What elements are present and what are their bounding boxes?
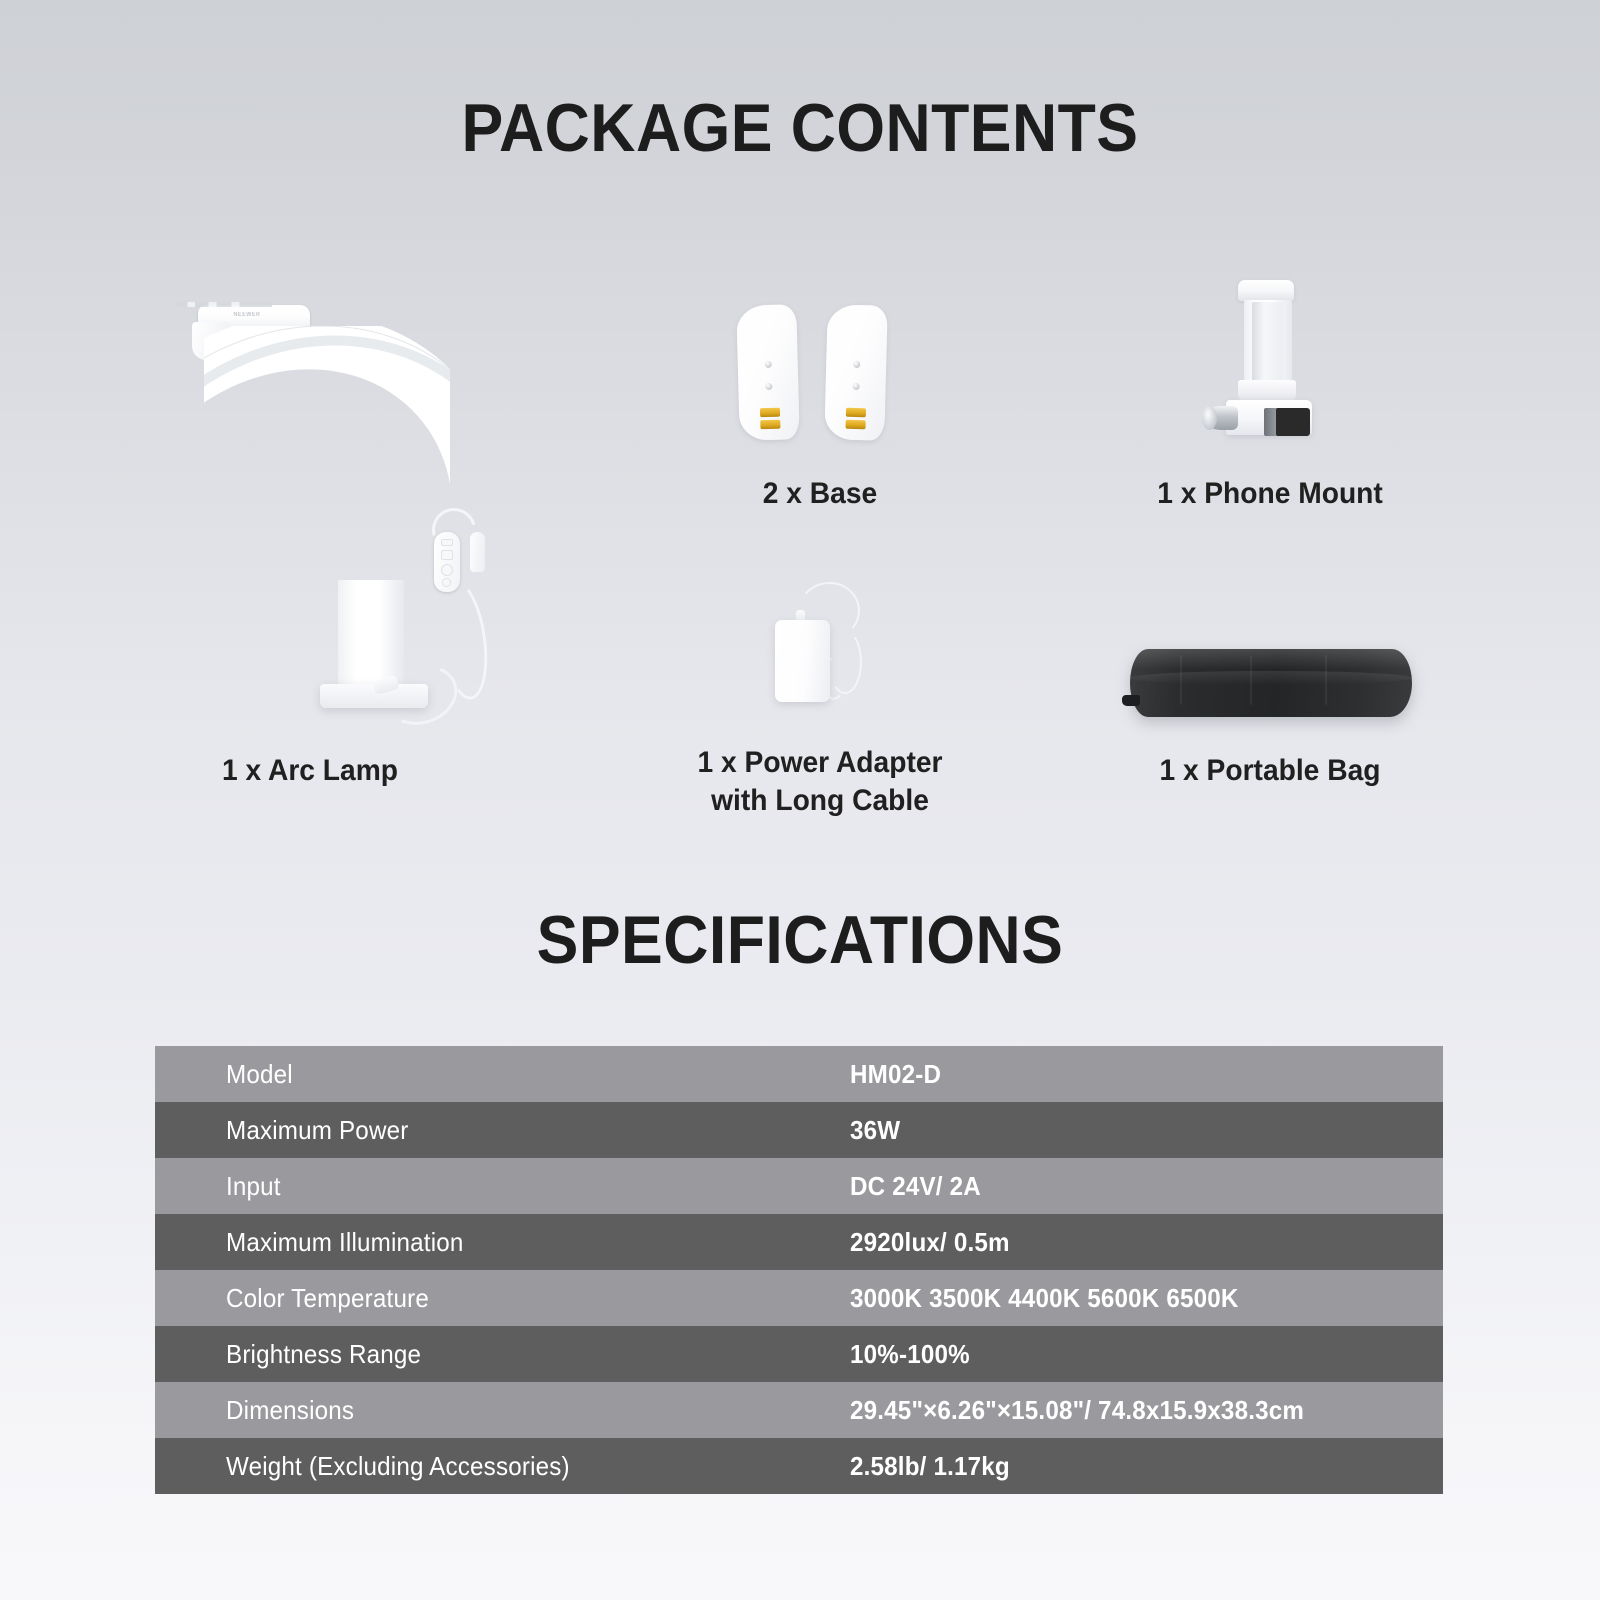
phone-mount-knob-cap xyxy=(1202,406,1217,430)
spec-value: 36W xyxy=(850,1115,1401,1145)
base-connector-upper xyxy=(846,408,866,418)
specifications-table: ModelHM02-DMaximum Power36WInputDC 24V/ … xyxy=(155,1046,1443,1494)
package-contents-title: PACKAGE CONTENTS xyxy=(64,88,1536,168)
base-screw-bottom xyxy=(765,383,772,390)
phone-mount-clamp-pad xyxy=(1276,408,1310,436)
phone-mount-bottom-jaw xyxy=(1238,380,1296,402)
spec-label: Color Temperature xyxy=(226,1283,806,1313)
spec-value: DC 24V/ 2A xyxy=(850,1171,1401,1201)
phone-mount-top-jaw xyxy=(1238,280,1294,301)
spec-value: HM02-D xyxy=(850,1059,1401,1089)
caption-portable-bag: 1 x Portable Bag xyxy=(1091,752,1448,790)
phone-mount-image xyxy=(1200,280,1350,445)
adapter-brick xyxy=(775,620,830,702)
caption-base: 2 x Base xyxy=(651,475,989,513)
base-plate-left xyxy=(736,304,800,441)
product-detail-page: PACKAGE CONTENTS NEEWER 1 x Arc Lamp xyxy=(0,0,1600,1600)
spec-row: Maximum Power36W xyxy=(155,1102,1443,1158)
portable-bag-image xyxy=(1120,645,1420,725)
lamp-led-strip xyxy=(176,302,272,307)
spec-label: Maximum Illumination xyxy=(226,1227,806,1257)
controller-button-3 xyxy=(441,564,453,576)
power-adapter-image xyxy=(770,580,890,710)
arc-lamp-image: NEEWER xyxy=(170,280,530,730)
spec-row: Brightness Range10%-100% xyxy=(155,1326,1443,1382)
spec-label: Dimensions xyxy=(226,1395,806,1425)
specifications-title: SPECIFICATIONS xyxy=(64,900,1536,980)
spec-label: Maximum Power xyxy=(226,1115,806,1145)
lamp-brand-label: NEEWER xyxy=(233,312,260,318)
base-screw-bottom xyxy=(853,383,860,390)
lamp-dc-connector xyxy=(470,532,485,572)
spec-row: InputDC 24V/ 2A xyxy=(155,1158,1443,1214)
bag-fold xyxy=(1180,655,1182,705)
spec-row: Maximum Illumination2920lux/ 0.5m xyxy=(155,1214,1443,1270)
spec-row: Color Temperature3000K 3500K 4400K 5600K… xyxy=(155,1270,1443,1326)
spec-value: 29.45"×6.26"×15.08"/ 74.8x15.9x38.3cm xyxy=(850,1395,1401,1425)
spec-row: Weight (Excluding Accessories)2.58lb/ 1.… xyxy=(155,1438,1443,1494)
base-connector-lower xyxy=(760,420,780,430)
controller-button-2 xyxy=(441,550,453,560)
spec-value: 2920lux/ 0.5m xyxy=(850,1227,1401,1257)
spec-value: 3000K 3500K 4400K 5600K 6500K xyxy=(850,1283,1401,1313)
base-plates-image xyxy=(730,305,900,445)
spec-label: Input xyxy=(226,1171,806,1201)
spec-row: ModelHM02-D xyxy=(155,1046,1443,1102)
spec-label: Model xyxy=(226,1059,806,1089)
bag-zipper-tab xyxy=(1122,695,1140,706)
lamp-inline-controller xyxy=(434,532,460,592)
controller-power-button xyxy=(442,578,451,587)
spec-value: 2.58lb/ 1.17kg xyxy=(850,1451,1401,1481)
bag-fold xyxy=(1325,655,1327,705)
spec-label: Weight (Excluding Accessories) xyxy=(226,1451,806,1481)
base-screw-top xyxy=(853,361,860,368)
base-connector-upper xyxy=(760,408,780,418)
base-plate-right xyxy=(824,304,888,441)
base-screw-top xyxy=(765,361,772,368)
caption-power-adapter: 1 x Power Adapter with Long Cable xyxy=(632,744,1008,820)
phone-mount-spine-inner xyxy=(1252,302,1283,382)
spec-label: Brightness Range xyxy=(226,1339,806,1369)
caption-arc-lamp: 1 x Arc Lamp xyxy=(131,752,488,790)
spec-row: Dimensions29.45"×6.26"×15.08"/ 74.8x15.9… xyxy=(155,1382,1443,1438)
bag-seam-highlight xyxy=(1130,671,1412,685)
base-connector-lower xyxy=(846,420,866,430)
bag-fold xyxy=(1250,655,1252,705)
caption-phone-mount: 1 x Phone Mount xyxy=(1091,475,1448,513)
controller-button-1 xyxy=(441,539,453,546)
spec-value: 10%-100% xyxy=(850,1339,1401,1369)
